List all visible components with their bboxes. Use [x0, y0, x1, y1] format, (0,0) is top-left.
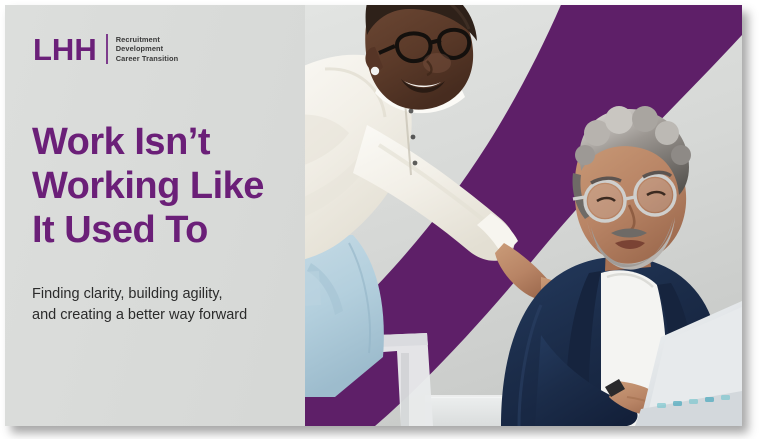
slide-card: LHH Recruitment Development Career Trans…	[5, 5, 742, 426]
logo-divider	[106, 34, 108, 64]
lhh-logo-wordmark: LHH	[33, 34, 97, 65]
hero-photo-illustration	[305, 5, 742, 426]
slide-subtitle: Finding clarity, building agility, and c…	[32, 284, 324, 326]
hero-photo	[305, 5, 742, 426]
lhh-logo-tagline: Recruitment Development Career Transitio…	[116, 35, 179, 64]
lhh-logo: LHH Recruitment Development Career Trans…	[33, 29, 178, 69]
slide-headline: Work Isn’t Working Like It Used To	[32, 120, 322, 252]
